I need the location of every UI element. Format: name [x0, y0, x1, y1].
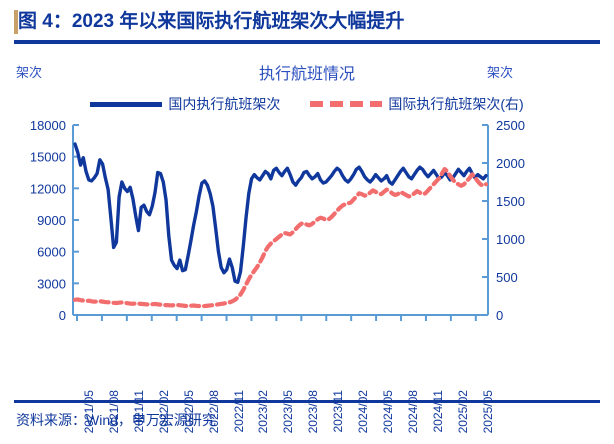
svg-text:2500: 2500 — [496, 118, 525, 133]
chart-svg: 0300060009000120001500018000 05001000150… — [0, 118, 614, 333]
svg-text:500: 500 — [496, 270, 518, 285]
axes-group — [73, 125, 488, 321]
x-tick-label: 2023/02 — [256, 390, 270, 433]
svg-text:12000: 12000 — [30, 181, 66, 196]
left-axis-tick-labels: 0300060009000120001500018000 — [30, 118, 66, 323]
x-tick-label: 2024/02 — [356, 390, 370, 433]
figure-title: 图 4：2023 年以来国际执行航班架次大幅提升 — [18, 8, 404, 36]
svg-text:18000: 18000 — [30, 118, 66, 133]
x-tick-label: 2024/08 — [406, 390, 420, 433]
x-tick-label: 2025/02 — [456, 390, 470, 433]
series-line-international — [75, 169, 486, 306]
x-tick-label: 2024/11 — [431, 390, 445, 433]
x-tick-label: 2023/05 — [281, 390, 295, 433]
legend-label-international: 国际执行航班架次(右) — [388, 94, 523, 114]
x-axis-tick-labels: 2021/052021/082021/112022/022022/052022/… — [0, 318, 614, 396]
svg-text:1500: 1500 — [496, 194, 525, 209]
svg-text:3000: 3000 — [37, 276, 66, 291]
svg-text:6000: 6000 — [37, 245, 66, 260]
x-tick-label: 2025/05 — [481, 390, 495, 433]
svg-text:9000: 9000 — [37, 213, 66, 228]
x-tick-label: 2023/08 — [306, 390, 320, 433]
chart-title: 执行航班情况 — [0, 60, 614, 84]
svg-text:15000: 15000 — [30, 150, 66, 165]
legend-label-domestic: 国内执行航班架次 — [168, 94, 280, 114]
legend-swatch-solid-line-icon — [90, 102, 162, 107]
x-tick-label: 2022/11 — [232, 390, 246, 433]
x-tick-label: 2023/11 — [331, 390, 345, 433]
legend-item-international: 国际执行航班架次(右) — [310, 94, 523, 114]
data-series-group — [75, 144, 486, 306]
figure-header: 图 4：2023 年以来国际执行航班架次大幅提升 — [0, 8, 614, 38]
chart-legend: 国内执行航班架次 国际执行航班架次(右) — [0, 92, 614, 116]
source-note: 资料来源：Wind，申万宏源研究 — [16, 410, 216, 430]
series-line-domestic — [75, 144, 486, 282]
footer-divider — [14, 400, 600, 403]
legend-item-domestic: 国内执行航班架次 — [90, 94, 280, 114]
chart-plot-area: 0300060009000120001500018000 05001000150… — [0, 118, 614, 333]
right-axis-tick-labels: 05001000150020002500 — [496, 118, 525, 323]
svg-text:2000: 2000 — [496, 156, 525, 171]
title-divider — [14, 40, 600, 44]
legend-swatch-dashed-line-icon — [310, 101, 382, 107]
svg-text:1000: 1000 — [496, 232, 525, 247]
x-tick-label: 2024/05 — [381, 390, 395, 433]
